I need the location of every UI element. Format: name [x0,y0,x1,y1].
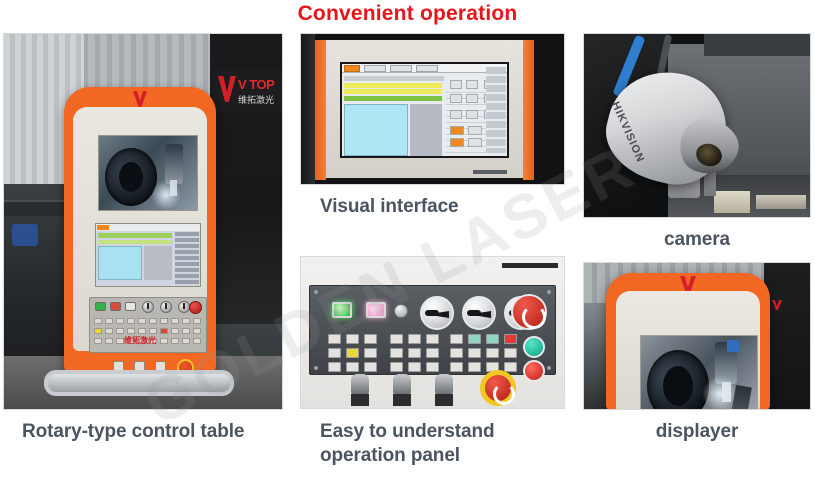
screen-row-highlight [344,89,442,94]
screen-button [450,110,462,119]
panel-key [408,348,421,358]
keypad-knob [160,301,172,313]
panel-key [468,362,481,372]
panel-screw [547,290,551,294]
panel-key [328,348,341,358]
machine-blue-part [12,224,38,246]
promo-board: GOLDEN LASER Convenient operation V TOP … [0,0,815,492]
panel-key [486,334,499,344]
photo-camera: HIKVISION [583,33,811,218]
keypad-key [127,318,135,324]
photo-visual-interface [300,33,565,185]
v-logo-icon [218,76,236,102]
keypad-stop-button [110,302,121,311]
caption-visual-interface: Visual interface [320,195,560,219]
key-switch [394,304,408,318]
keypad-knob [142,301,154,313]
panel-power-off-button [523,360,545,382]
selector-switch [435,374,453,406]
panel-key [426,348,439,358]
keypad-key [149,318,157,324]
v-logo-icon [133,91,147,107]
screen-button [466,80,478,89]
keypad-key [193,318,201,324]
cnc-software-screen [340,62,509,158]
selector-knob [351,374,369,394]
screen-row [344,76,444,81]
monitor-housing [326,40,523,178]
pendant-body: 维拓激光 [73,107,207,351]
screen-tab-bar [342,64,507,73]
cutting-glow [151,180,181,210]
pendant-body [616,291,760,410]
caption-operation-panel: Easy to understand operation panel [320,420,565,468]
enclosure-wall-top [704,34,810,56]
panel-key [450,362,463,372]
cnc-parameter-panel [98,246,142,280]
panel-key [426,362,439,372]
page-title: Convenient operation [0,2,815,26]
photo-rotary-control-table: V TOP 维拓激光 [3,33,283,410]
workpiece-disc [105,148,157,206]
dark-machine-body [764,263,810,409]
selector-base [393,394,411,406]
laser-head [165,144,183,184]
panel-key [346,362,359,372]
selector-knob [393,374,411,394]
background-light [714,191,750,213]
selector-base [435,394,453,406]
cnc-status-row [98,240,172,244]
keypad-key [138,328,146,334]
panel-key [390,334,403,344]
keypad-key [127,328,135,334]
screen-tab [390,65,412,72]
keypad-key [94,328,102,334]
screen-table-panel [410,104,442,156]
brand-logo-text: V TOP [238,77,274,92]
panel-key [408,334,421,344]
emergency-stop-mushroom [480,370,516,406]
displayer-camera-feed [640,335,758,410]
caption-camera: camera [583,228,811,252]
panel-keypad-matrix [328,334,499,368]
screen-button [450,80,462,89]
screen-tab [364,65,386,72]
screen-button-active [450,126,464,135]
panel-key [468,348,481,358]
panel-key [408,362,421,372]
panel-key [346,334,359,344]
pendant-emergency-stop-small [189,301,202,314]
panel-nameplate [502,263,558,268]
panel-key-alarm [504,334,517,344]
control-pendant: 维拓激光 [64,87,216,377]
illuminated-stop-button [366,302,386,318]
panel-key [504,362,517,372]
screen-button [450,94,462,103]
caption-displayer: displayer [583,420,811,444]
knob-pointer-icon [427,311,449,318]
keypad-key [149,328,157,334]
rotary-knob-spindle [462,296,496,330]
workpiece-disc [647,350,709,410]
keypad-key [116,318,124,324]
keypad-key [193,328,201,334]
keypad-key [116,328,124,334]
keypad-key [160,328,168,334]
panel-screw [547,366,551,370]
pendant-camera-monitor [98,135,198,211]
cnc-status-row [98,233,172,238]
keypad-key [182,328,190,334]
panel-key [450,334,463,344]
panel-key [328,334,341,344]
caption-rotary-control-table: Rotary-type control table [22,420,272,444]
keypad-key [105,318,113,324]
machine-edge-left [301,34,315,184]
panel-screw [314,366,318,370]
panel-key [328,362,341,372]
screen-row-status [344,96,442,101]
panel-key [486,348,499,358]
panel-selector-switches [351,374,453,406]
selector-base [351,394,369,406]
screen-tab [344,65,360,72]
keypad-key [138,318,146,324]
keypad-key [160,318,168,324]
pendant-support-arm [44,370,234,396]
panel-key [390,348,403,358]
keypad-start-button [95,302,106,311]
pendant-cnc-screen [95,223,201,287]
keypad-reset-button [125,302,136,311]
panel-emergency-stop [511,294,547,330]
panel-key [364,348,377,358]
keypad-key [182,318,190,324]
orange-frame-right [523,40,534,180]
screen-button-active [450,138,464,147]
panel-power-on-button [523,336,545,358]
screen-button [468,126,482,135]
photo-operation-panel [300,256,565,409]
orange-frame-left [315,40,326,180]
vtop-logo-banner: V TOP 维拓激光 [212,70,283,112]
screen-side-menu [486,67,506,153]
screen-button [466,110,478,119]
panel-key [390,362,403,372]
monitor-nameplate [473,170,507,174]
panel-key [504,348,517,358]
screen-row-highlight [344,83,442,88]
screen-button [468,138,482,147]
blue-fitting [727,340,739,352]
cnc-table-panel [144,246,172,280]
background-light [756,195,806,209]
selector-knob [435,374,453,394]
panel-key [468,334,481,344]
cnc-toolbar [96,224,200,231]
cnc-side-buttons [175,232,199,284]
brand-logo-chinese: 维拓激光 [238,93,274,106]
panel-key [450,348,463,358]
knob-pointer-icon [469,311,491,318]
screen-tab [416,65,438,72]
pendant-brand-text: 维拓激光 [73,335,207,346]
selector-switch [351,374,369,406]
keypad-key [171,328,179,334]
keypad-key [94,318,102,324]
selector-switch [393,374,411,406]
displayer-pendant [606,273,770,410]
keypad-key [171,318,179,324]
keypad-key [105,328,113,334]
screen-parameter-panel [344,104,408,156]
rotary-knob-feedrate [420,296,454,330]
control-panel-face [309,285,556,375]
panel-key [426,334,439,344]
vtop-logo-strip [768,297,808,313]
illuminated-start-button [332,302,352,318]
panel-screw [314,290,318,294]
photo-displayer [583,262,811,410]
screen-button [466,94,478,103]
panel-key [364,362,377,372]
panel-key [364,334,377,344]
panel-key [346,348,359,358]
